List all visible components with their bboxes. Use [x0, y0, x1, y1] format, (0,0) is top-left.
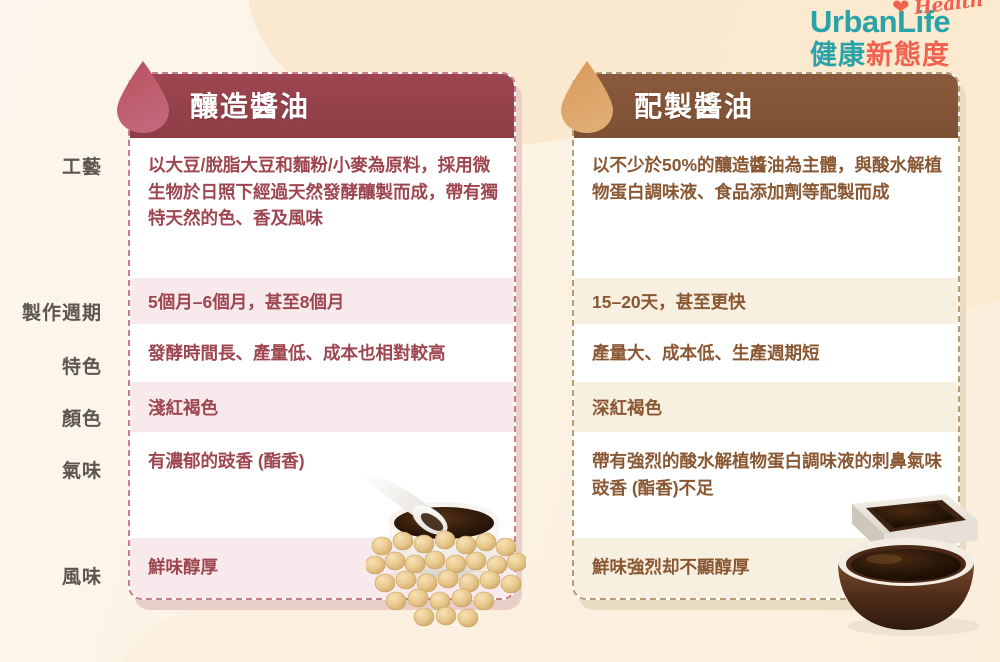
droplet-icon [114, 60, 172, 134]
table-row: 帶有強烈的酸水解植物蛋白調味液的刺鼻氣味 豉香 (酯香)不足 [574, 432, 960, 538]
droplet-icon [558, 60, 616, 134]
row-value-aroma: 有濃郁的豉香 (酯香) [148, 448, 305, 475]
row-label-process: 工藝 [62, 152, 102, 179]
card-brewed-soy-sauce: 釀造醬油 以大豆/脫脂大豆和麵粉/小麥為原料，採用微生物於日照下經過天然發酵釀製… [128, 72, 516, 600]
row-value-cycle: 5個月–6個月，甚至8個月 [148, 289, 344, 316]
card-header: 配製醬油 [572, 72, 960, 138]
row-label-features: 特色 [62, 352, 102, 379]
card-header: 釀造醬油 [128, 72, 516, 138]
logo-chinese-line: 健康新態度 [810, 42, 986, 69]
row-label-column: 工藝 製作週期 特色 顏色 氣味 風味 [0, 0, 124, 662]
row-value-features: 發酵時間長、產量低、成本也相對較高 [148, 340, 446, 367]
row-value-process: 以大豆/脫脂大豆和麵粉/小麥為原料，採用微生物於日照下經過天然發酵釀製而成，帶有… [148, 152, 500, 232]
table-row: 淺紅褐色 [130, 382, 516, 432]
card-rows: 以不少於50%的釀造醬油為主體，與酸水解植物蛋白調味液、食品添加劑等配製而成 1… [574, 138, 960, 600]
logo-chinese-teal: 健康 [810, 40, 866, 70]
table-row: 發酵時間長、產量低、成本也相對較高 [130, 324, 516, 382]
urbanlife-logo[interactable]: UrbanLife ❤ Health 健康新態度 [810, 6, 986, 69]
logo-chinese-coral: 新態度 [866, 40, 950, 70]
table-row: 產量大、成本低、生產週期短 [574, 324, 960, 382]
row-label-cycle: 製作週期 [22, 298, 102, 325]
table-row: 鮮味強烈却不顯醇厚 [574, 538, 960, 600]
heart-icon: ❤ [892, 0, 909, 18]
row-value-aroma: 帶有強烈的酸水解植物蛋白調味液的刺鼻氣味 豉香 (酯香)不足 [592, 448, 942, 501]
card-title: 釀造醬油 [190, 85, 310, 125]
row-value-flavor: 鮮味強烈却不顯醇厚 [592, 554, 750, 581]
row-value-features: 產量大、成本低、生產週期短 [592, 340, 820, 367]
table-row: 5個月–6個月，甚至8個月 [130, 278, 516, 324]
card-rows: 以大豆/脫脂大豆和麵粉/小麥為原料，採用微生物於日照下經過天然發酵釀製而成，帶有… [130, 138, 516, 600]
table-row: 深紅褐色 [574, 382, 960, 432]
table-row: 以大豆/脫脂大豆和麵粉/小麥為原料，採用微生物於日照下經過天然發酵釀製而成，帶有… [130, 138, 516, 278]
row-value-flavor: 鮮味醇厚 [148, 554, 218, 581]
row-value-color: 深紅褐色 [592, 395, 662, 422]
row-label-color: 顏色 [62, 404, 102, 431]
table-row: 有濃郁的豉香 (酯香) [130, 432, 516, 538]
row-value-process: 以不少於50%的釀造醬油為主體，與酸水解植物蛋白調味液、食品添加劑等配製而成 [592, 152, 944, 205]
card-blended-soy-sauce: 配製醬油 以不少於50%的釀造醬油為主體，與酸水解植物蛋白調味液、食品添加劑等配… [572, 72, 960, 600]
card-title: 配製醬油 [634, 85, 754, 125]
logo-brand-line: UrbanLife ❤ Health [810, 6, 986, 37]
infographic-canvas: UrbanLife ❤ Health 健康新態度 工藝 製作週期 特色 顏色 氣… [0, 0, 1000, 662]
row-value-color: 淺紅褐色 [148, 395, 218, 422]
card-body: 配製醬油 以不少於50%的釀造醬油為主體，與酸水解植物蛋白調味液、食品添加劑等配… [572, 72, 960, 600]
table-row: 鮮味醇厚 [130, 538, 516, 600]
card-body: 釀造醬油 以大豆/脫脂大豆和麵粉/小麥為原料，採用微生物於日照下經過天然發酵釀製… [128, 72, 516, 600]
table-row: 15–20天，甚至更快 [574, 278, 960, 324]
row-value-cycle: 15–20天，甚至更快 [592, 289, 746, 316]
row-label-aroma: 氣味 [62, 456, 102, 483]
row-label-flavor: 風味 [62, 562, 102, 589]
table-row: 以不少於50%的釀造醬油為主體，與酸水解植物蛋白調味液、食品添加劑等配製而成 [574, 138, 960, 278]
